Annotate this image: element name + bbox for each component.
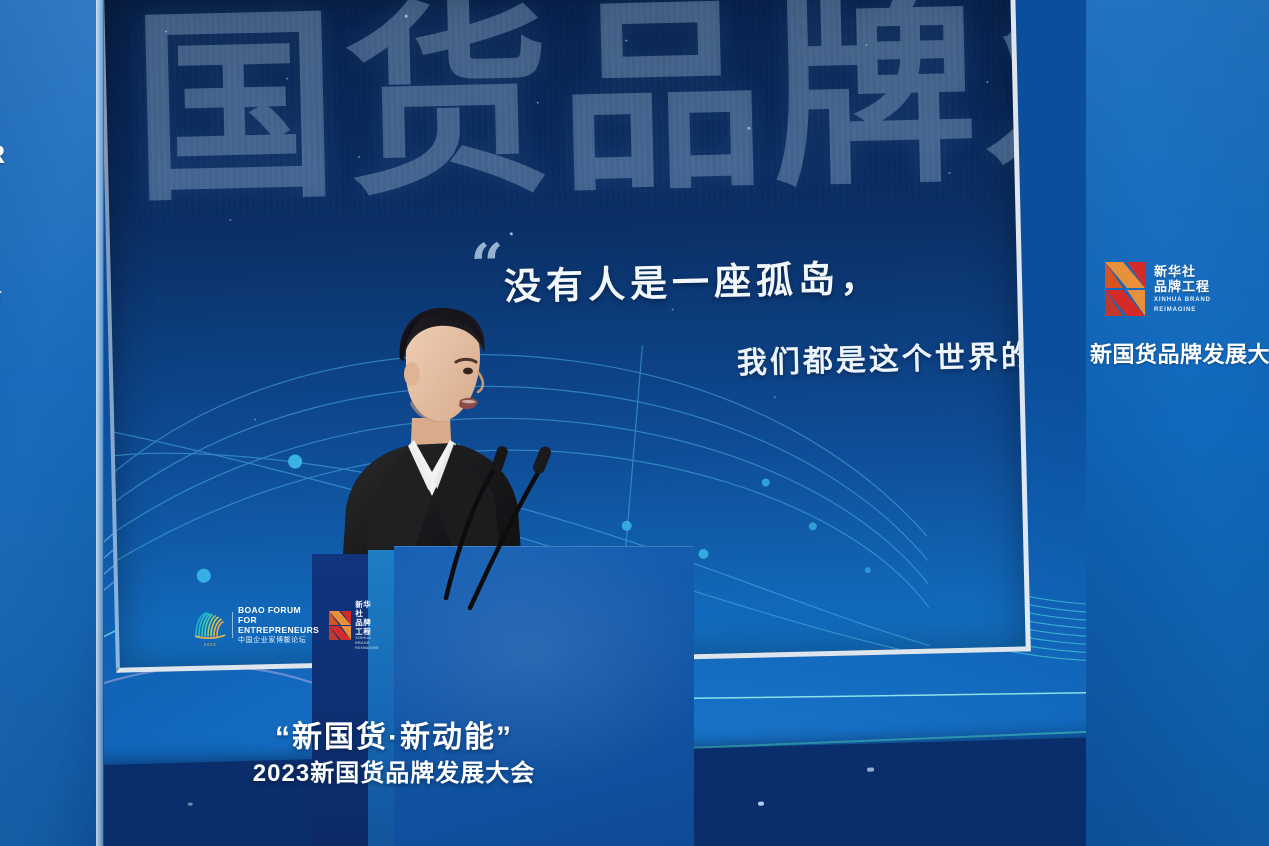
microphone-right [460, 420, 600, 610]
left-wall-text-block: UM FOR NEURS 博鳌论坛 [0, 140, 104, 232]
xinhua-cn-line2: 品牌工程 [1154, 279, 1211, 294]
xinhua-cn-line1: 新华社 [1154, 264, 1211, 279]
logo-divider [232, 612, 233, 638]
screen-ghost-headline: 国货品牌发展 [131, 0, 1031, 209]
podium-xinhua-en1: XINHUA BRAND [355, 636, 379, 646]
boao-en-line1: BOAO FORUM FOR [238, 605, 319, 625]
xinhua-x-logo-icon [1103, 260, 1147, 318]
xinhua-x-logo-icon-podium [328, 610, 352, 641]
xinhua-en-line2: REIMAGINE [1154, 306, 1211, 314]
right-wall-event-title: 新国货品牌发展大会 [1090, 337, 1269, 369]
screen-quote-line-2: 我们都是这个世界的一部分； [736, 328, 1030, 382]
boao-logo-text: BOAO FORUM FOR ENTREPRENEURS 中国企业家博鳌论坛 [238, 605, 319, 645]
podium-xinhua-logo: 新华社 品牌工程 XINHUA BRAND REIMAGINE [328, 600, 379, 651]
podium-event-title: “新国货·新动能” [275, 712, 513, 756]
podium-xinhua-text: 新华社 品牌工程 XINHUA BRAND REIMAGINE [355, 600, 379, 651]
left-wall-sheen [0, 0, 104, 846]
right-wall-panel [1086, 0, 1269, 846]
xinhua-logo-wall: 新华社 品牌工程 XINHUA BRAND REIMAGINE [1103, 252, 1243, 326]
podium-logo-row: 2023 BOAO FORUM FOR ENTREPRENEURS 中国企业家博… [193, 603, 368, 647]
left-wall-en-line2: NEURS [0, 170, 104, 200]
podium-xinhua-cn2: 品牌工程 [355, 618, 379, 636]
left-wall-cn-line: 博鳌论坛 [0, 202, 104, 232]
xinhua-en-line1: XINHUA BRAND [1154, 296, 1211, 304]
stage-photo: 国货品牌发展 [0, 0, 1269, 846]
screen-left-frame-edge [96, 0, 103, 846]
podium-accent-strip [368, 550, 394, 846]
left-wall-panel: UM FOR NEURS 博鳌论坛 大会 [0, 0, 104, 846]
left-wall-en-line1: UM FOR [0, 140, 104, 170]
podium-event-subtitle: 2023新国货品牌发展大会 [253, 753, 535, 788]
quotation-mark-icon: “ [470, 245, 504, 286]
boao-cn-line: 中国企业家博鳌论坛 [238, 636, 319, 645]
podium-xinhua-cn1: 新华社 [355, 600, 379, 618]
boao-year: 2023 [193, 642, 227, 647]
podium-side-panel [312, 554, 368, 846]
xinhua-logo-text: 新华社 品牌工程 XINHUA BRAND REIMAGINE [1154, 264, 1211, 314]
right-wall-sheen [1086, 0, 1269, 846]
podium-xinhua-en2: REIMAGINE [355, 646, 379, 651]
boao-fan-logo-icon: 2023 [193, 610, 227, 640]
boao-en-line2: ENTREPRENEURS [238, 625, 319, 635]
boao-logo: 2023 BOAO FORUM FOR ENTREPRENEURS 中国企业家博… [193, 605, 319, 645]
